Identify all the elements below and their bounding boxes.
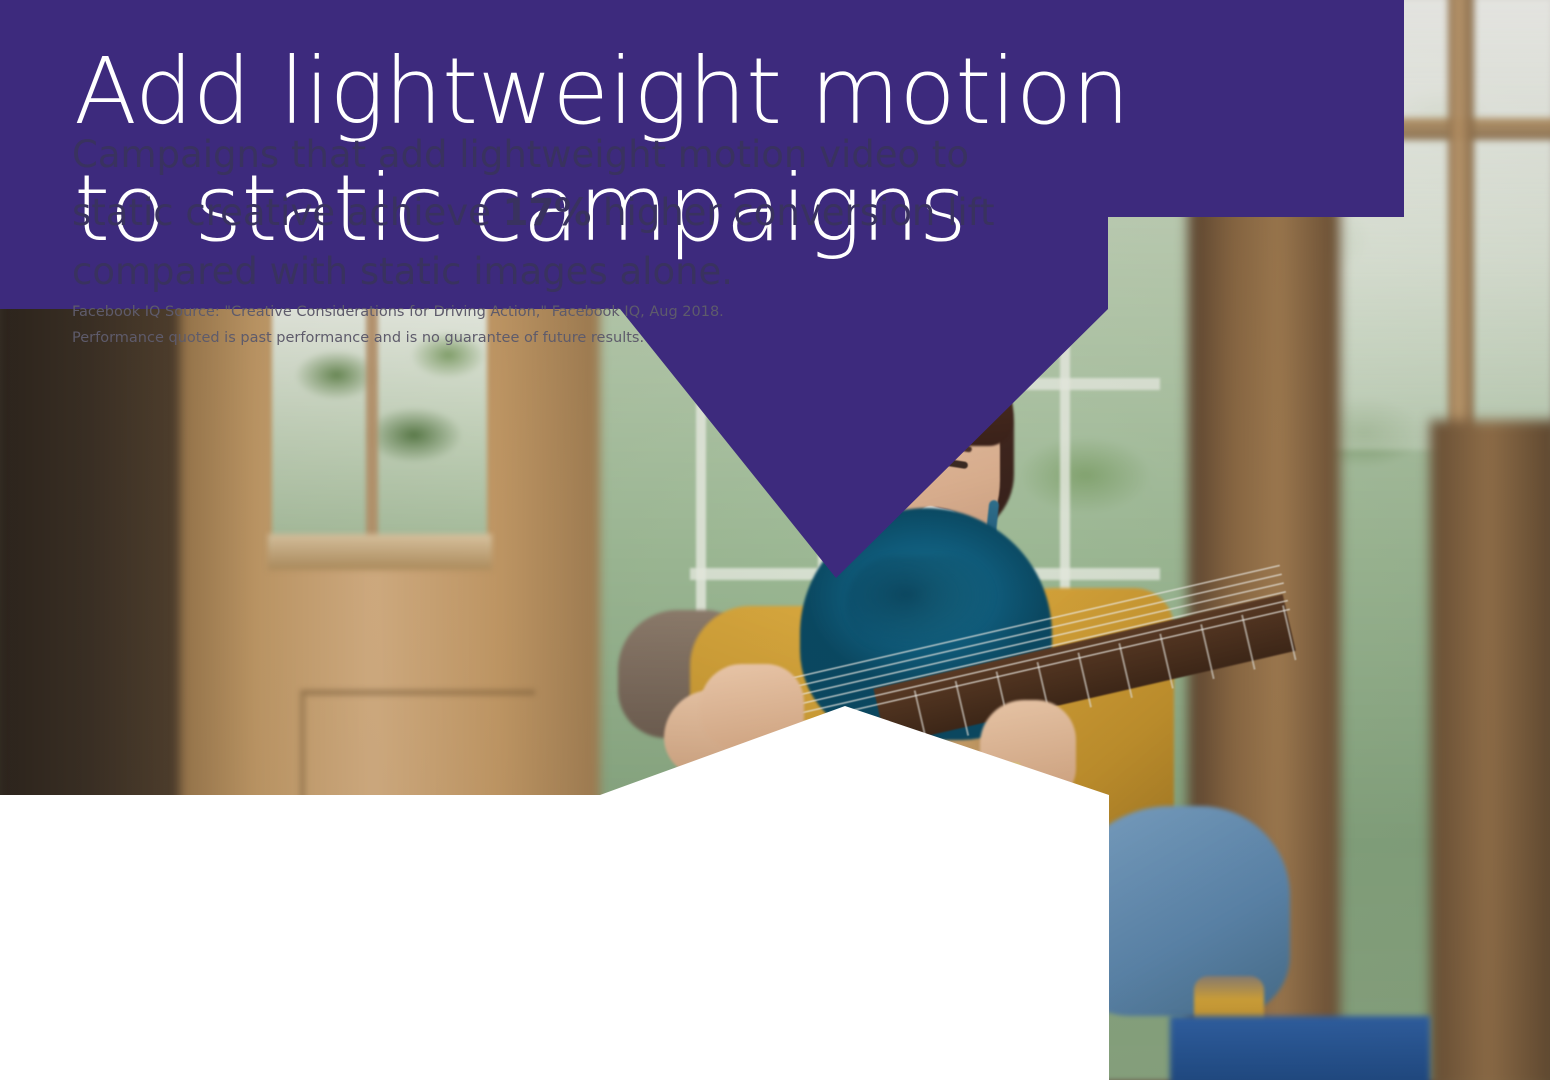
caption-text: Campaigns that add lightweight motion vi… [72,126,1032,301]
stat-highlight: 17% [503,191,592,234]
blue-rug [1170,1016,1430,1080]
source-footnote: Facebook IQ Source: "Creative Considerat… [72,300,972,352]
slide-canvas: Add lightweight motion to static campaig… [0,0,1550,1080]
